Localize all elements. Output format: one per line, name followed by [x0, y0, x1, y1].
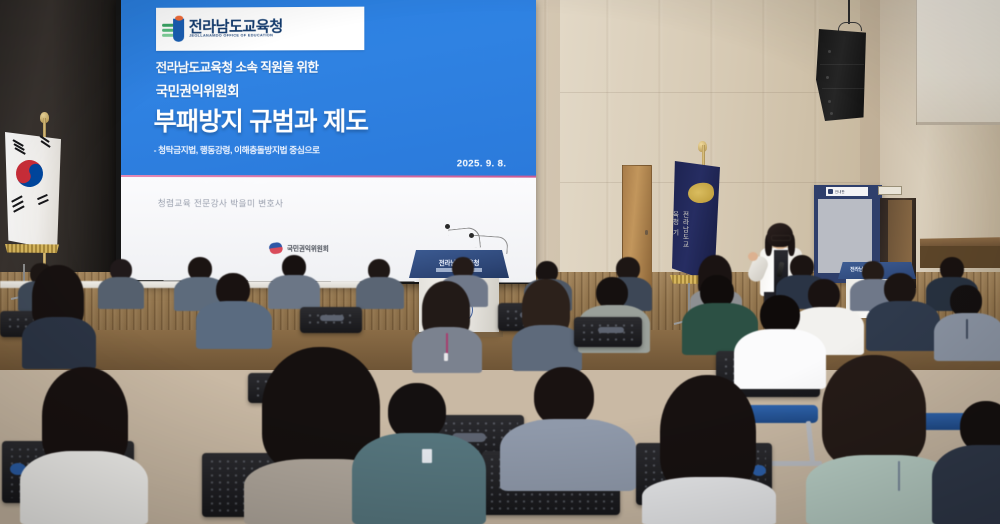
speaker-bracket	[838, 22, 862, 31]
slide-speaker-text: 청렴교육 전문강사 박을미 변호사	[158, 197, 284, 209]
podium-mic-2-icon	[445, 224, 450, 229]
slide-note-text: - 청탁금지법, 행동강령, 이해충돌방지법 중심으로	[154, 144, 519, 156]
slide-title-text: 부패방지 규범과 제도	[154, 102, 536, 139]
taegeuk-government-icon	[269, 241, 283, 254]
line-array-speaker-icon	[816, 29, 866, 121]
glasses-icon	[771, 235, 791, 241]
podium-mic-1-icon	[469, 233, 474, 238]
lecture-hall-screenshot: 안내판 전라남도교육청 JEOLLANAMDO OFFICE OF EDUCAT…	[0, 0, 1000, 524]
slide-subtitle-text: 국민권익위원회	[156, 79, 488, 100]
notice-board-label: 안내판	[826, 187, 868, 196]
slide-date-text: 2025. 9. 8.	[457, 158, 507, 169]
slide-footer-logo: 국민권익위원회	[269, 241, 329, 254]
org-flag-text: 전라남도교육청 기	[678, 211, 689, 255]
taegukgi-cloth	[5, 132, 61, 250]
speaker-cable	[848, 0, 850, 24]
board-emblem-icon	[828, 189, 833, 194]
notice-board-label-text: 안내판	[835, 189, 845, 194]
flag-fringe	[5, 244, 59, 253]
center-door-knob-icon	[645, 230, 648, 235]
slide-kicker-text: 전라남도교육청 소속 직원을 위한	[156, 56, 488, 76]
audience-area	[0, 255, 1000, 524]
jeonnam-education-logo-icon	[162, 17, 184, 41]
soffit-edge	[916, 122, 1000, 125]
ceiling-soffit	[916, 0, 1000, 125]
slide-footer-logo-text: 국민권익위원회	[287, 243, 329, 253]
slide-logo-english: JEOLLANAMDO OFFICE OF EDUCATION	[189, 34, 288, 38]
slide-organization-logo: 전라남도교육청 JEOLLANAMDO OFFICE OF EDUCATION	[156, 6, 364, 51]
exit-sign	[878, 186, 902, 195]
